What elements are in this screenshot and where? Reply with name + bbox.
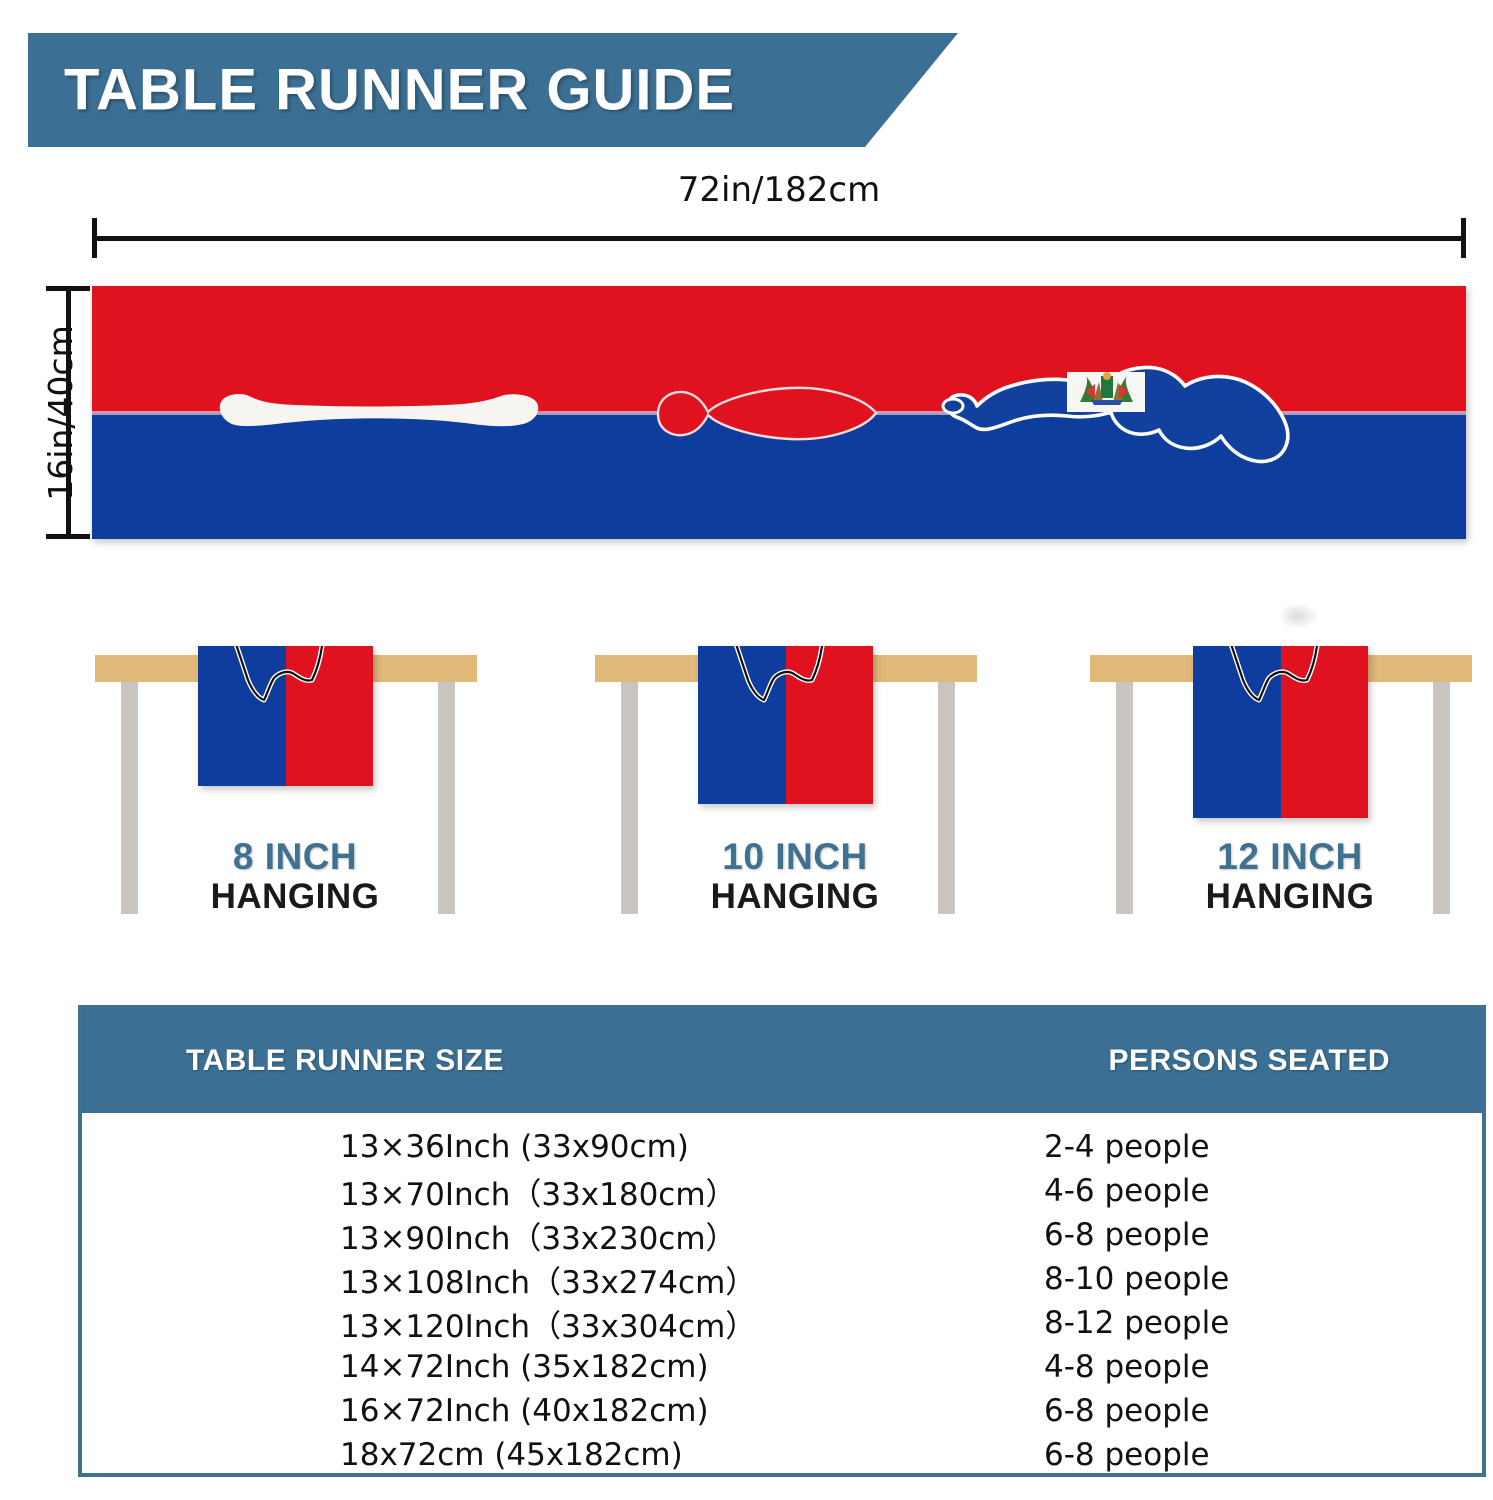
- column-header-size: TABLE RUNNER SIZE: [186, 1044, 504, 1078]
- table-row: 13×70Inch（33x180cm） 4-6 people: [82, 1169, 1482, 1213]
- table-row: 18x72cm (45x182cm) 6-8 people: [82, 1433, 1482, 1477]
- cell-runner-size: 13×36Inch (33x90cm): [82, 1129, 1002, 1165]
- hanging-inch-label: 12 INCH: [1090, 838, 1490, 875]
- background-smudge: [1278, 603, 1318, 629]
- cell-persons-seated: 6-8 people: [1002, 1437, 1482, 1473]
- width-dimension-cap-left: [92, 218, 97, 258]
- runner-heart-shape: [640, 383, 880, 445]
- draped-runner: [1193, 646, 1368, 818]
- height-dimension-label: 16in/40cm: [41, 286, 80, 539]
- drape-island-map: [718, 646, 853, 727]
- table-row: 16×72Inch (40x182cm) 6-8 people: [82, 1389, 1482, 1433]
- haiti-coat-of-arms: [1067, 372, 1145, 412]
- width-dimension: 72in/182cm: [92, 216, 1466, 262]
- cell-persons-seated: 6-8 people: [1002, 1217, 1482, 1253]
- size-chart-header: TABLE RUNNER SIZE PERSONS SEATED: [82, 1009, 1482, 1113]
- cell-runner-size: 16×72Inch (40x182cm): [82, 1393, 1002, 1429]
- table-row: 13×90Inch（33x230cm） 6-8 people: [82, 1213, 1482, 1257]
- cell-runner-size: 13×108Inch（33x274cm）: [82, 1257, 1002, 1302]
- column-header-people: PERSONS SEATED: [1109, 1044, 1391, 1078]
- guide-banner: TABLE RUNNER GUIDE: [28, 33, 958, 147]
- cell-persons-seated: 4-6 people: [1002, 1173, 1482, 1209]
- height-dimension-cap-bottom: [46, 534, 90, 539]
- hanging-caption: 12 INCH HANGING: [1090, 838, 1490, 914]
- table-row: 13×108Inch（33x274cm） 8-10 people: [82, 1257, 1482, 1301]
- draped-runner: [198, 646, 373, 786]
- cell-persons-seated: 8-10 people: [1002, 1261, 1482, 1297]
- drape-island-map: [218, 646, 353, 727]
- hanging-word-label: HANGING: [1090, 879, 1490, 914]
- table-row: 14×72Inch (35x182cm) 4-8 people: [82, 1345, 1482, 1389]
- width-dimension-cap-right: [1461, 218, 1466, 258]
- table-row: 13×120Inch（33x304cm） 8-12 people: [82, 1301, 1482, 1345]
- hanging-word-label: HANGING: [95, 879, 495, 914]
- cell-runner-size: 14×72Inch (35x182cm): [82, 1349, 1002, 1385]
- hanging-inch-label: 8 INCH: [95, 838, 495, 875]
- cell-persons-seated: 6-8 people: [1002, 1393, 1482, 1429]
- hanging-caption: 10 INCH HANGING: [595, 838, 995, 914]
- height-dimension-line: [66, 286, 71, 539]
- hanging-demo-12-inch: 12 INCH HANGING: [1090, 600, 1490, 930]
- hanging-caption: 8 INCH HANGING: [95, 838, 495, 914]
- runner-wordmark-blob: [215, 390, 545, 432]
- height-dimension: 16in/40cm: [46, 286, 92, 539]
- width-dimension-line: [92, 236, 1466, 241]
- cell-runner-size: 13×120Inch（33x304cm）: [82, 1301, 1002, 1346]
- cell-persons-seated: 8-12 people: [1002, 1305, 1482, 1341]
- hanging-demo-8-inch: 8 INCH HANGING: [95, 600, 495, 930]
- cell-runner-size: 13×70Inch（33x180cm）: [82, 1169, 1002, 1214]
- hanging-word-label: HANGING: [595, 879, 995, 914]
- size-chart-body: 13×36Inch (33x90cm) 2-4 people 13×70Inch…: [82, 1113, 1482, 1477]
- cell-runner-size: 18x72cm (45x182cm): [82, 1437, 1002, 1473]
- cell-runner-size: 13×90Inch（33x230cm）: [82, 1213, 1002, 1258]
- draped-runner: [698, 646, 873, 804]
- drape-island-map: [1213, 646, 1348, 727]
- size-chart-table: TABLE RUNNER SIZE PERSONS SEATED 13×36In…: [78, 1005, 1486, 1477]
- height-dimension-cap-top: [46, 286, 90, 291]
- table-row: 13×36Inch (33x90cm) 2-4 people: [82, 1125, 1482, 1169]
- width-dimension-label: 72in/182cm: [92, 170, 1466, 210]
- page-title: TABLE RUNNER GUIDE: [64, 57, 735, 124]
- hanging-demo-10-inch: 10 INCH HANGING: [595, 600, 995, 930]
- hanging-inch-label: 10 INCH: [595, 838, 995, 875]
- cell-persons-seated: 4-8 people: [1002, 1349, 1482, 1385]
- haiti-island-map: [915, 340, 1315, 510]
- cell-persons-seated: 2-4 people: [1002, 1129, 1482, 1165]
